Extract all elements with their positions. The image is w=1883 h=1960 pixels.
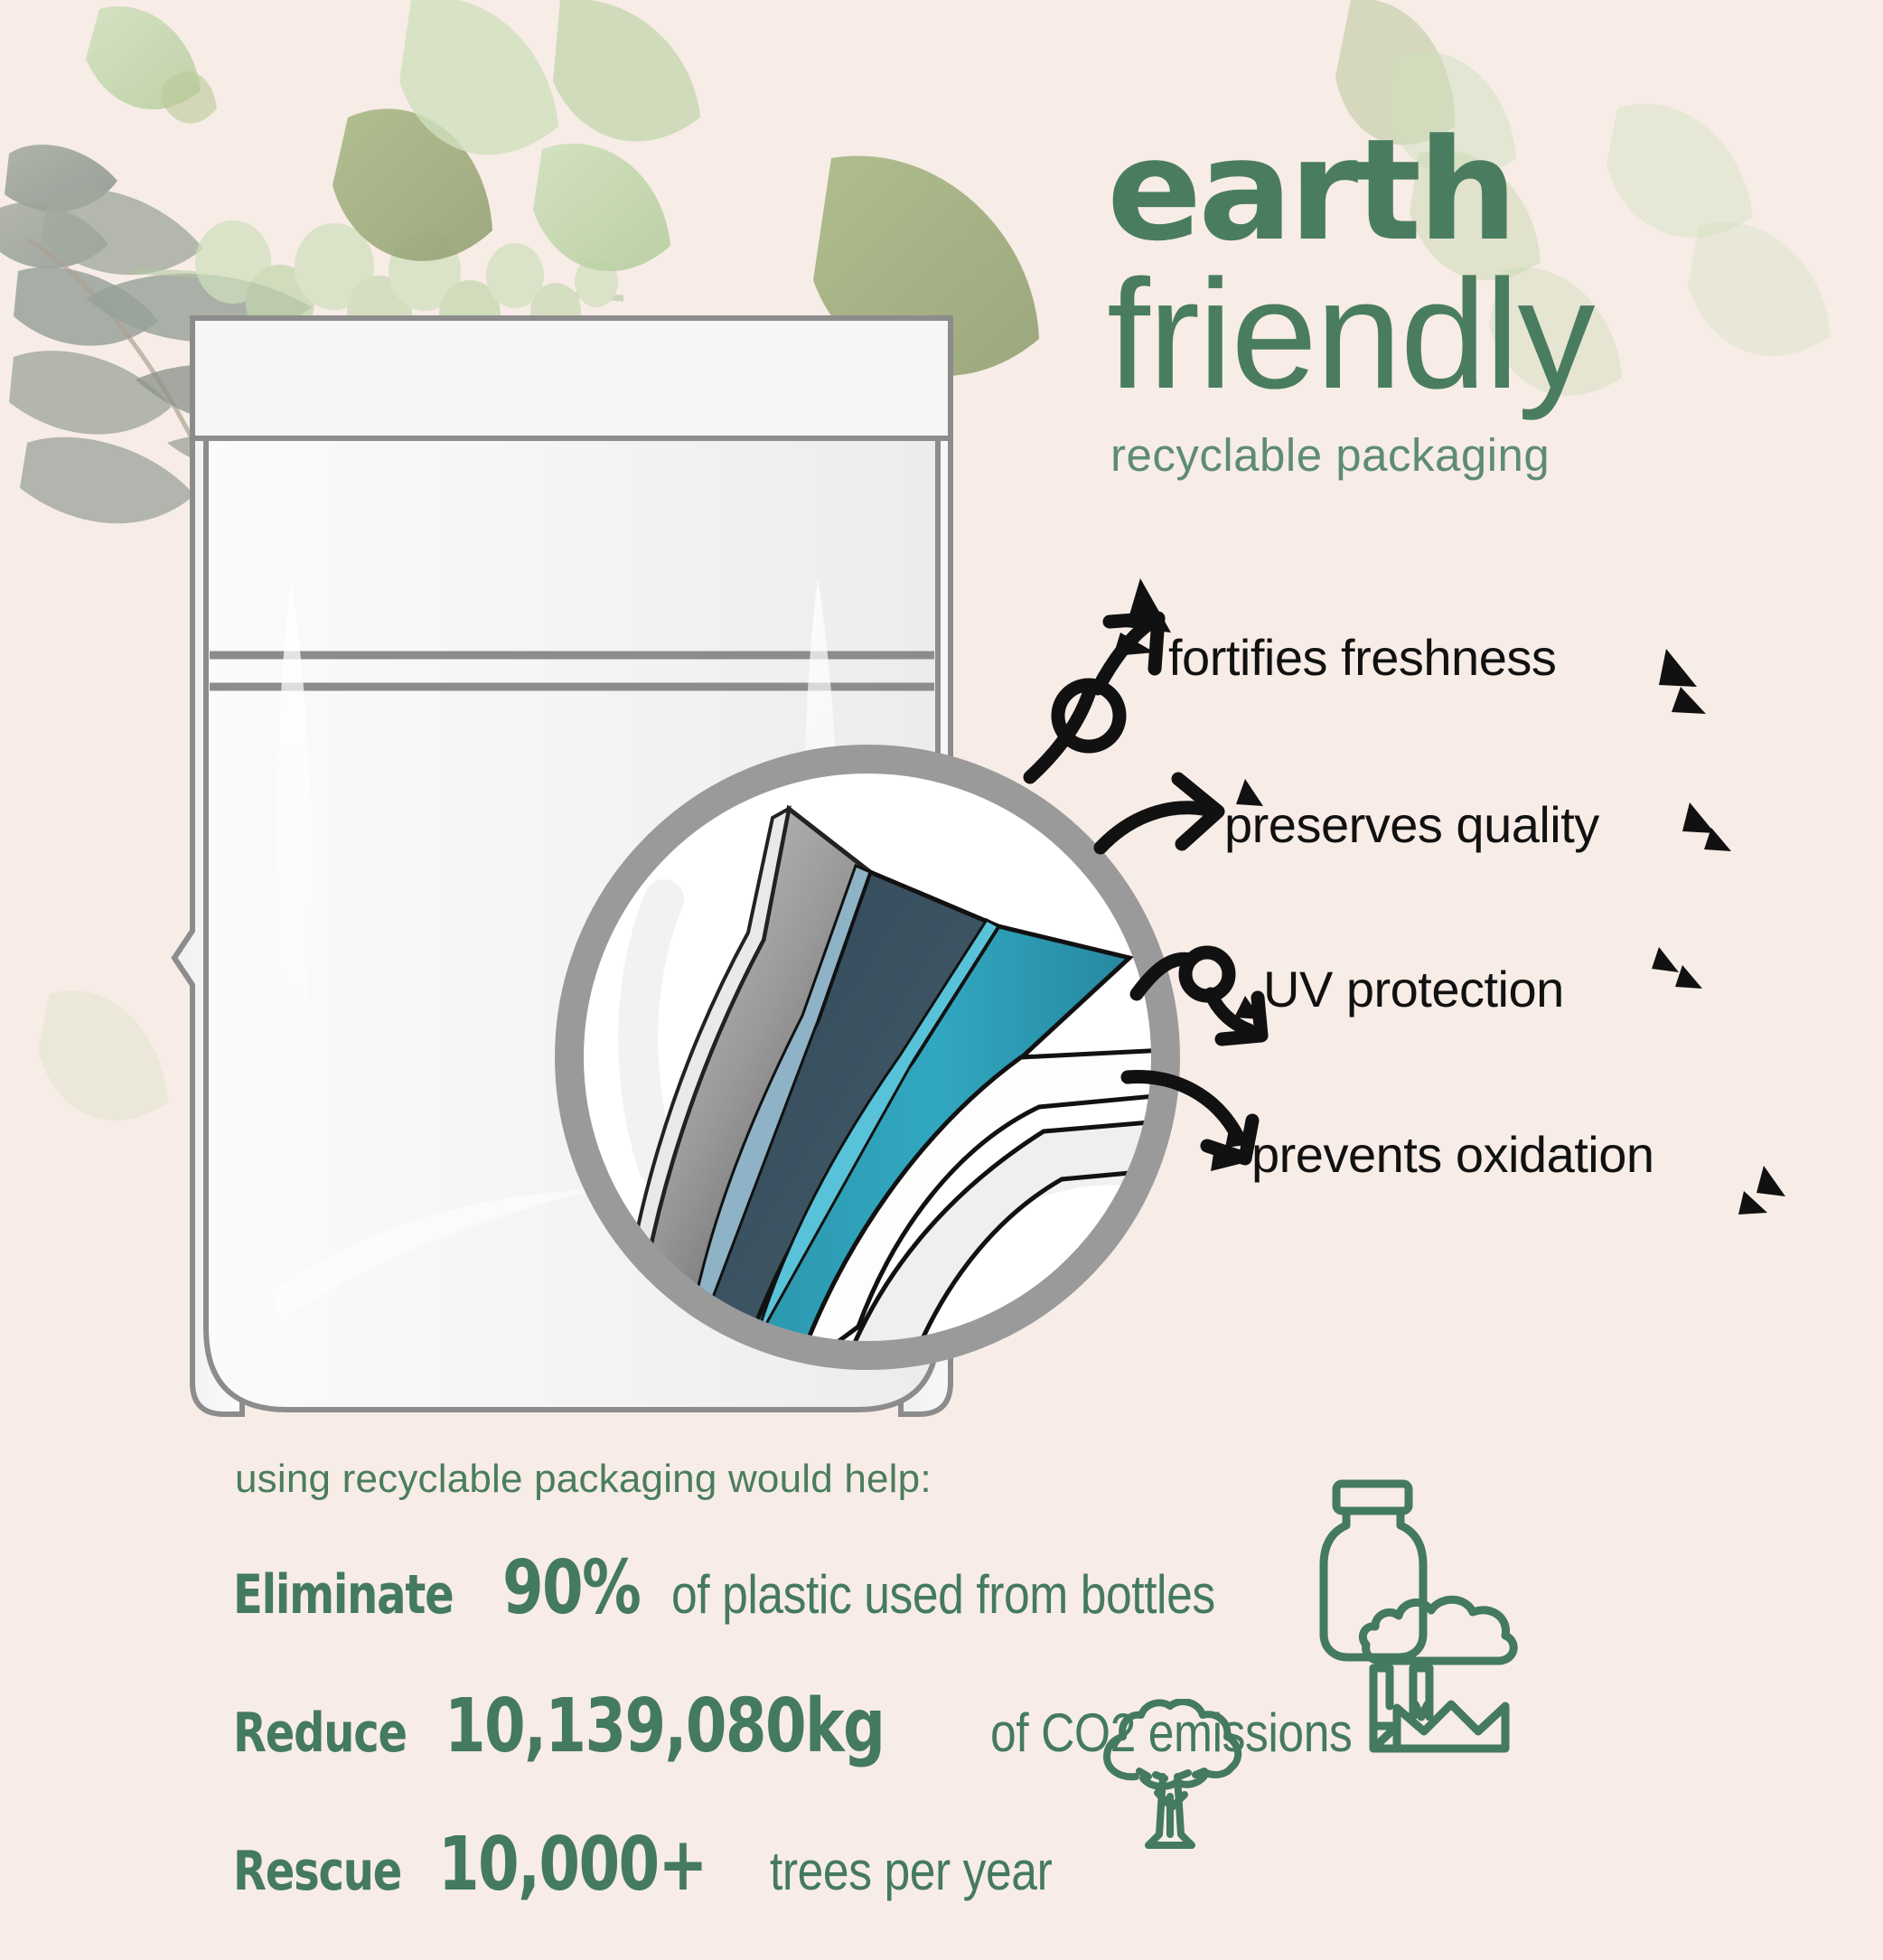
stat-value: 90% (502, 1545, 640, 1631)
stat-value: 10,000+ (438, 1822, 707, 1908)
smoke-cloud (1363, 1599, 1513, 1661)
bottle-cap (1336, 1484, 1409, 1511)
tree-canopy (1107, 1702, 1238, 1787)
infographic-canvas: earth friendly recyclable packaging fort… (0, 0, 1883, 1884)
headline-line-2: friendly (1107, 256, 1839, 408)
feature-label-prevents-oxidation: prevents oxidation (1251, 1125, 1654, 1184)
stat-verb: Rescue (233, 1840, 401, 1903)
feature-label-uv-protection: UV protection (1263, 960, 1564, 1018)
feature-label-preserves-quality: preserves quality (1224, 795, 1599, 854)
stat-row-rescue: Rescue 10,000+ trees per year (233, 1822, 1588, 1908)
stat-tail: trees per year (770, 1840, 1052, 1902)
stat-tail: of plastic used from bottles (671, 1563, 1215, 1626)
stat-verb: Eliminate (233, 1563, 453, 1627)
curved-arrow-icon-1 (1101, 779, 1218, 848)
stat-value: 10,139,080kg (445, 1683, 884, 1769)
curl-arrow-icon (1030, 618, 1158, 777)
headline-block: earth friendly recyclable packaging (1107, 127, 1839, 482)
stat-verb: Reduce (233, 1702, 407, 1765)
factory-icon (1355, 1590, 1550, 1762)
headline-line-1: earth (1107, 127, 1839, 256)
loop-arrow-icon (1137, 952, 1261, 1039)
feature-label-fortifies-freshness: fortifies freshness (1168, 628, 1556, 687)
tree-icon (1080, 1699, 1260, 1862)
